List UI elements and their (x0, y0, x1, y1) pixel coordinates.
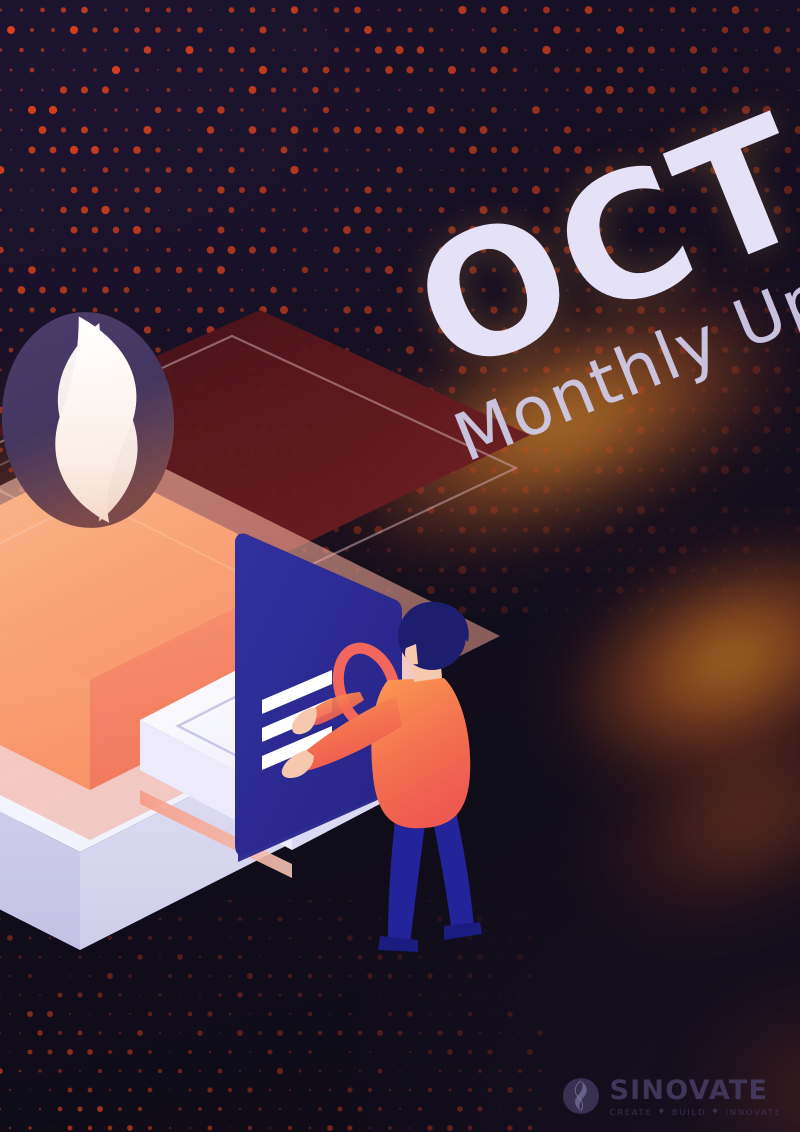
tagline-separator-2: ◆ (712, 1108, 719, 1115)
brand-name: SINOVATE (610, 1077, 783, 1104)
tagline-word-build: BUILD (672, 1108, 706, 1116)
brand-lockup: SINOVATE CREATE ◆ BUILD ◆ INNOVATE (562, 1077, 783, 1116)
tagline-word-create: CREATE (610, 1108, 653, 1116)
tagline-separator-1: ◆ (659, 1108, 666, 1115)
tagline-word-innovate: INNOVATE (726, 1108, 782, 1116)
brand-text: SINOVATE CREATE ◆ BUILD ◆ INNOVATE (610, 1077, 783, 1116)
brand-tagline: CREATE ◆ BUILD ◆ INNOVATE (610, 1108, 783, 1116)
monthly-update-poster: OCT Monthly Update SINOVATE CREATE ◆ BUI… (0, 0, 800, 1132)
sinovate-swirl-icon (562, 1077, 600, 1115)
